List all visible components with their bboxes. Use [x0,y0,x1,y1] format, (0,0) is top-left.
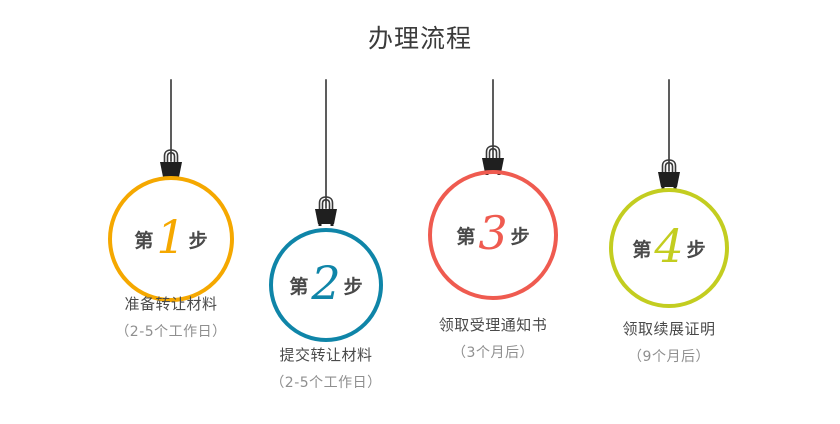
process-flow-infographic: 办理流程 第 1 步 准备转让材料 （2-5个工作日） [0,0,840,424]
step-suffix-2: 步 [344,272,363,299]
step-number-4: 4 [654,224,683,268]
step-suffix-4: 步 [687,235,706,262]
step-number-label-2: 第 2 步 [269,258,383,312]
step-prefix-2: 第 [289,272,308,299]
step-number-1: 1 [156,215,185,259]
step-duration-4: （9个月后） [569,346,769,368]
step-number-3: 3 [478,211,507,255]
step-number-2: 2 [311,261,340,305]
binder-clip-icon-2 [306,195,346,229]
step-label-1: 准备转让材料 [71,293,271,315]
step-duration-3: （3个月后） [393,342,593,364]
step-suffix-1: 步 [189,226,208,253]
step-caption-1: 准备转让材料 （2-5个工作日） [71,293,271,343]
hanging-string-icon-2 [325,79,327,209]
step-prefix-4: 第 [632,235,651,262]
step-caption-3: 领取受理通知书 （3个月后） [393,314,593,364]
step-number-label-3: 第 3 步 [428,208,558,262]
step-label-3: 领取受理通知书 [393,314,593,336]
step-prefix-1: 第 [134,226,153,253]
step-caption-4: 领取续展证明 （9个月后） [569,318,769,368]
page-title: 办理流程 [0,22,840,56]
step-suffix-3: 步 [511,222,530,249]
binder-clip-icon-4 [649,158,689,192]
step-duration-1: （2-5个工作日） [71,321,271,343]
step-duration-2: （2-5个工作日） [226,372,426,394]
step-number-label-1: 第 1 步 [108,212,234,266]
step-number-label-4: 第 4 步 [609,221,729,275]
step-prefix-3: 第 [456,222,475,249]
step-label-4: 领取续展证明 [569,318,769,340]
